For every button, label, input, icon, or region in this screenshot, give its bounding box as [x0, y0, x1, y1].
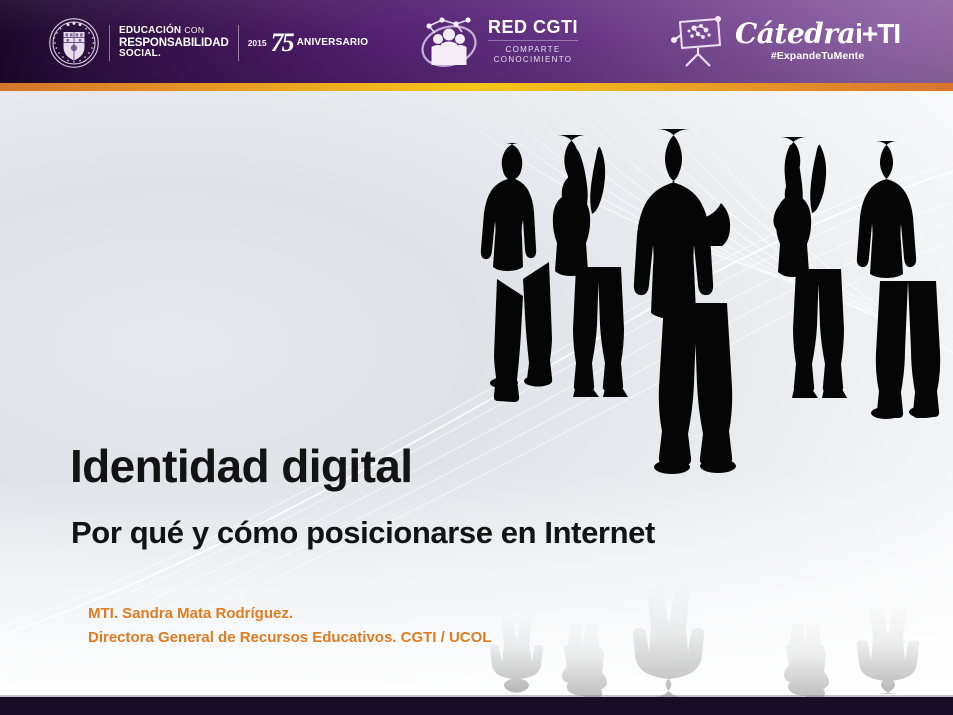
anniversary-badge: 2015 75 ANIVERSARIO [248, 31, 369, 54]
tagline-line3: SOCIAL. [119, 49, 229, 60]
presentation-slide: EDUCACIÓN CON RESPONSABILIDAD SOCIAL. 20… [0, 0, 953, 715]
catedra-title-script: Cátedra [735, 17, 855, 50]
author-name: MTI. Sandra Mata Rodríguez. [88, 602, 491, 626]
catedra-hashtag: #ExpandeTuMente [735, 50, 900, 62]
red-cgti-title: RED CGTI [488, 18, 578, 36]
ucol-tagline: EDUCACIÓN CON RESPONSABILIDAD SOCIAL. [119, 26, 229, 59]
author-role: Directora General de Recursos Educativos… [88, 626, 491, 650]
network-people-icon [418, 12, 480, 70]
page-subtitle: Por qué y cómo posicionarse en Internet [71, 517, 655, 548]
divider [488, 40, 578, 41]
anniversary-word: ANIVERSARIO [297, 37, 369, 48]
ucol-logo-lockup: EDUCACIÓN CON RESPONSABILIDAD SOCIAL. 20… [48, 14, 368, 72]
catedra-wordmark: Cátedrai+TI #ExpandeTuMente [735, 20, 900, 62]
slide-footer-bar [0, 697, 953, 715]
red-cgti-logo-lockup: RED CGTI COMPARTE CONOCIMIENTO [418, 12, 578, 70]
slide-body: Identidad digital Por qué y cómo posicio… [0, 91, 953, 697]
tagline-line1-strong: EDUCACIÓN [119, 25, 181, 36]
anniversary-year: 2015 [248, 38, 267, 48]
university-seal-icon [48, 17, 100, 69]
red-cgti-subtitle-line1: COMPARTE [488, 45, 578, 55]
page-title: Identidad digital [70, 443, 412, 489]
tagline-line1-light: CON [184, 25, 204, 35]
divider [238, 25, 239, 61]
ucol-tagline-group: EDUCACIÓN CON RESPONSABILIDAD SOCIAL. 20… [109, 25, 368, 61]
red-cgti-wordmark: RED CGTI COMPARTE CONOCIMIENTO [488, 18, 578, 65]
easel-board-icon [668, 14, 728, 68]
divider [109, 25, 110, 61]
author-block: MTI. Sandra Mata Rodríguez. Directora Ge… [88, 602, 491, 651]
red-cgti-subtitle-line2: CONOCIMIENTO [488, 55, 578, 65]
anniversary-number: 75 [271, 31, 293, 54]
catedra-iti-logo-lockup: Cátedrai+TI #ExpandeTuMente [668, 14, 900, 68]
orange-accent-stripe [0, 83, 953, 91]
catedra-title-mark: i+TI [855, 18, 900, 49]
